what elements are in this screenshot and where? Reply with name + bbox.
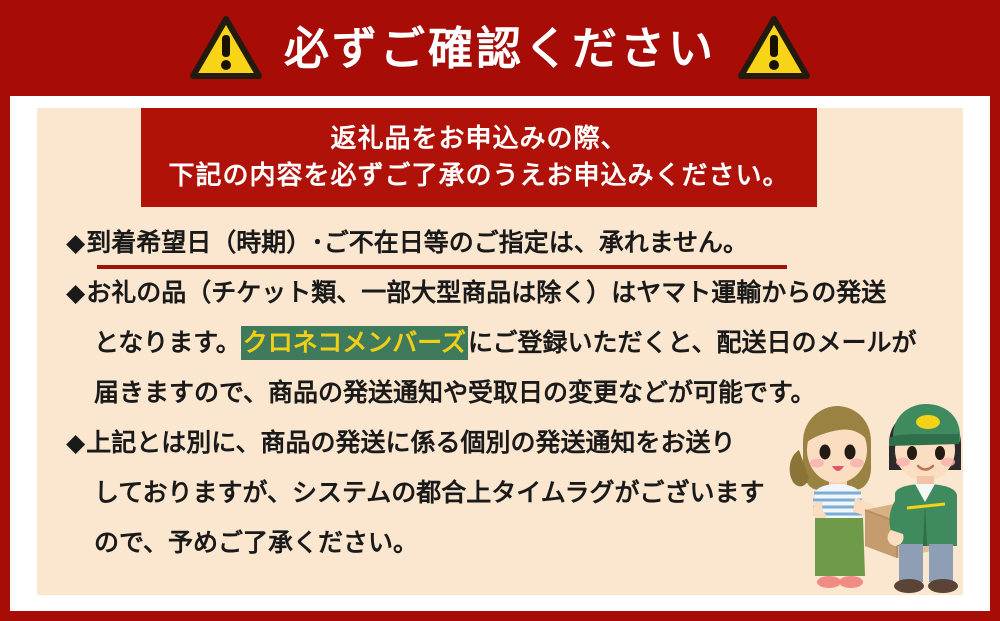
bullet-1-underline: [97, 265, 787, 269]
delivery-handoff-illustration: [785, 398, 963, 595]
notice-image: 必ずご確認ください 返礼品をお申込みの際、 下記の内容を必ずご了承のうえお申込み…: [0, 0, 1000, 621]
bullet-list: ◆到着希望日（時期）･ご不在日等のご指定は、承れません。 ◆お礼の品（チケット類…: [66, 218, 896, 568]
bullet-1-line-1: 到着希望日（時期）･ご不在日等のご指定は、承れません。: [86, 228, 748, 257]
kuroneko-members-highlight: クロネコメンバーズ: [241, 326, 468, 360]
notice-banner-line-2: 下記の内容を必ずご了承のうえお申込みください。: [168, 161, 789, 192]
bullet-3-line-2: しておりますが、システムの都合上タイムラグがございます: [94, 478, 765, 507]
bullet-2-line-2-prefix: となります。: [94, 328, 241, 357]
woman-receiving-parcel: [790, 406, 889, 588]
warning-triangle-icon: [738, 16, 810, 80]
bullet-marker: ◆: [66, 228, 85, 257]
bullet-marker: ◆: [66, 428, 85, 457]
bullet-item-1: ◆到着希望日（時期）･ご不在日等のご指定は、承れません。: [66, 218, 896, 268]
bullet-2-line-2-suffix: にご登録いただくと、配送日のメールが: [468, 328, 917, 357]
bullet-3-line-1: 上記とは別に、商品の発送に係る個別の発送通知をお送り: [86, 428, 735, 457]
bullet-item-2: ◆お礼の品（チケット類、一部大型商品は除く）はヤマト運輸からの発送 となります。…: [66, 268, 896, 418]
header-banner: 必ずご確認ください: [0, 0, 1000, 96]
notice-banner-line-1: 返礼品をお申込みの際、: [330, 124, 627, 155]
bullet-item-3: ◆上記とは別に、商品の発送に係る個別の発送通知をお送り しておりますが、システム…: [66, 418, 896, 568]
bullet-2-line-3: 届きますので、商品の発送通知や受取日の変更などが可能です。: [94, 378, 816, 407]
bullet-3-line-3: ので、予めご了承ください。: [94, 528, 418, 557]
notice-banner: 返礼品をお申込みの際、 下記の内容を必ずご了承のうえお申込みください。: [141, 108, 817, 207]
page-title: 必ずご確認ください: [284, 26, 716, 71]
courier-with-green-cap: [888, 404, 961, 593]
bullet-marker: ◆: [66, 278, 85, 307]
warning-triangle-icon: [190, 16, 262, 80]
bullet-2-line-1: お礼の品（チケット類、一部大型商品は除く）はヤマト運輸からの発送: [86, 278, 886, 307]
